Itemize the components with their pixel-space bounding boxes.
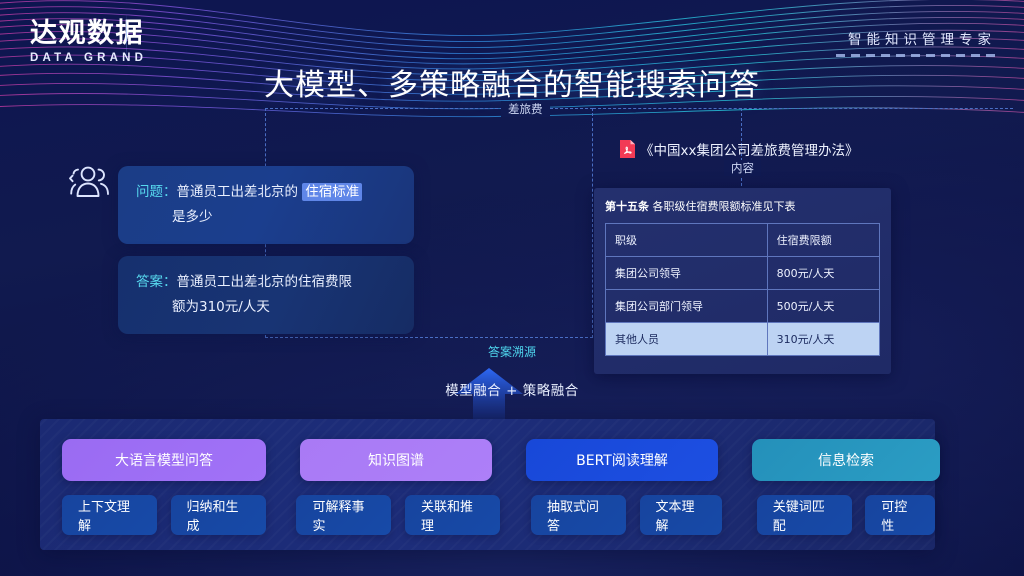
capability-llm-qa[interactable]: 大语言模型问答 [62, 439, 266, 481]
feature-summarize-generate[interactable]: 归纳和生成 [171, 495, 266, 535]
document-clause-number: 第十五条 [605, 200, 649, 213]
label-content: 内容 [724, 160, 761, 176]
table-cell-rank: 集团公司部门领导 [606, 290, 768, 323]
table-row: 集团公司部门领导 500元/人天 [606, 290, 880, 323]
table-cell-limit: 800元/人天 [767, 257, 879, 290]
feature-keyword-matching[interactable]: 关键词匹配 [757, 495, 852, 535]
label-answer-trace: 答案溯源 [0, 343, 1024, 360]
page-title: 大模型、多策略融合的智能搜索问答 [0, 60, 1024, 104]
document-file-name: 《中国xx集团公司差旅费管理办法》 [640, 139, 858, 159]
tagline-dashed-rule [836, 54, 996, 57]
question-label: 问题： [136, 184, 177, 200]
table-header-rank: 职级 [606, 224, 768, 257]
capability-bert-reading[interactable]: BERT阅读理解 [526, 439, 718, 481]
brand-name-cn: 达观数据 [30, 18, 147, 49]
feature-controllability[interactable]: 可控性 [865, 495, 935, 535]
answer-line-2: 额为310元/人天 [136, 295, 396, 320]
document-clause-text: 各职级住宿费限额标准见下表 [653, 200, 796, 213]
tagline: 智能知识管理专家 [836, 28, 996, 57]
question-bubble: 问题：普通员工出差北京的 住宿标准 是多少 [118, 166, 414, 244]
connector-top-right-line [593, 108, 1013, 109]
people-group-icon [66, 160, 114, 204]
table-cell-limit: 500元/人天 [767, 290, 879, 323]
table-row: 集团公司领导 800元/人天 [606, 257, 880, 290]
tagline-text: 智能知识管理专家 [836, 28, 996, 48]
feature-context-understanding[interactable]: 上下文理解 [62, 495, 157, 535]
question-line-2: 是多少 [136, 205, 396, 230]
question-text-after: 是多少 [136, 205, 213, 230]
table-header-limit: 住宿费限额 [767, 224, 879, 257]
secondary-capability-row: 上下文理解 归纳和生成 可解释事实 关联和推理 抽取式问答 文本理解 关键词匹配… [62, 495, 935, 535]
allowance-table-body: 职级 住宿费限额 集团公司领导 800元/人天 集团公司部门领导 500元/人天… [606, 224, 880, 356]
capability-knowledge-graph[interactable]: 知识图谱 [300, 439, 492, 481]
answer-label: 答案： [136, 274, 177, 290]
label-travel-expense: 差旅费 [501, 101, 550, 117]
answer-bubble: 答案：普通员工出差北京的住宿费限 额为310元/人天 [118, 256, 414, 334]
logo-divider [126, 14, 127, 58]
question-line-1: 问题：普通员工出差北京的 住宿标准 [136, 180, 396, 205]
capability-panel: 大语言模型问答 知识图谱 BERT阅读理解 信息检索 上下文理解 归纳和生成 可… [40, 419, 935, 550]
pdf-file-icon [620, 140, 635, 158]
table-cell-rank: 集团公司领导 [606, 257, 768, 290]
brand-logo: 达观数据 DATA GRAND [30, 18, 147, 64]
feature-text-understanding[interactable]: 文本理解 [640, 495, 722, 535]
label-model-strategy-fusion: 模型融合 + 策略融合 [0, 379, 1024, 399]
question-highlight: 住宿标准 [302, 183, 362, 201]
document-clause-line: 第十五条 各职级住宿费限额标准见下表 [605, 198, 880, 214]
feature-explainable-facts[interactable]: 可解释事实 [296, 495, 391, 535]
feature-linking-reasoning[interactable]: 关联和推理 [405, 495, 500, 535]
answer-text-2: 额为310元/人天 [136, 295, 270, 320]
allowance-table: 职级 住宿费限额 集团公司领导 800元/人天 集团公司部门领导 500元/人天… [605, 223, 880, 356]
primary-capability-row: 大语言模型问答 知识图谱 BERT阅读理解 信息检索 [62, 439, 940, 481]
capability-info-retrieval[interactable]: 信息检索 [752, 439, 940, 481]
question-text-before: 普通员工出差北京的 [177, 184, 299, 200]
answer-text-1: 普通员工出差北京的住宿费限 [177, 274, 353, 290]
feature-extractive-qa[interactable]: 抽取式问答 [531, 495, 626, 535]
document-file-title[interactable]: 《中国xx集团公司差旅费管理办法》 [620, 139, 858, 159]
answer-line-1: 答案：普通员工出差北京的住宿费限 [136, 270, 396, 295]
table-header-row: 职级 住宿费限额 [606, 224, 880, 257]
slide-root: 达观数据 DATA GRAND 智能知识管理专家 大模型、多策略融合的智能搜索问… [0, 0, 1024, 576]
